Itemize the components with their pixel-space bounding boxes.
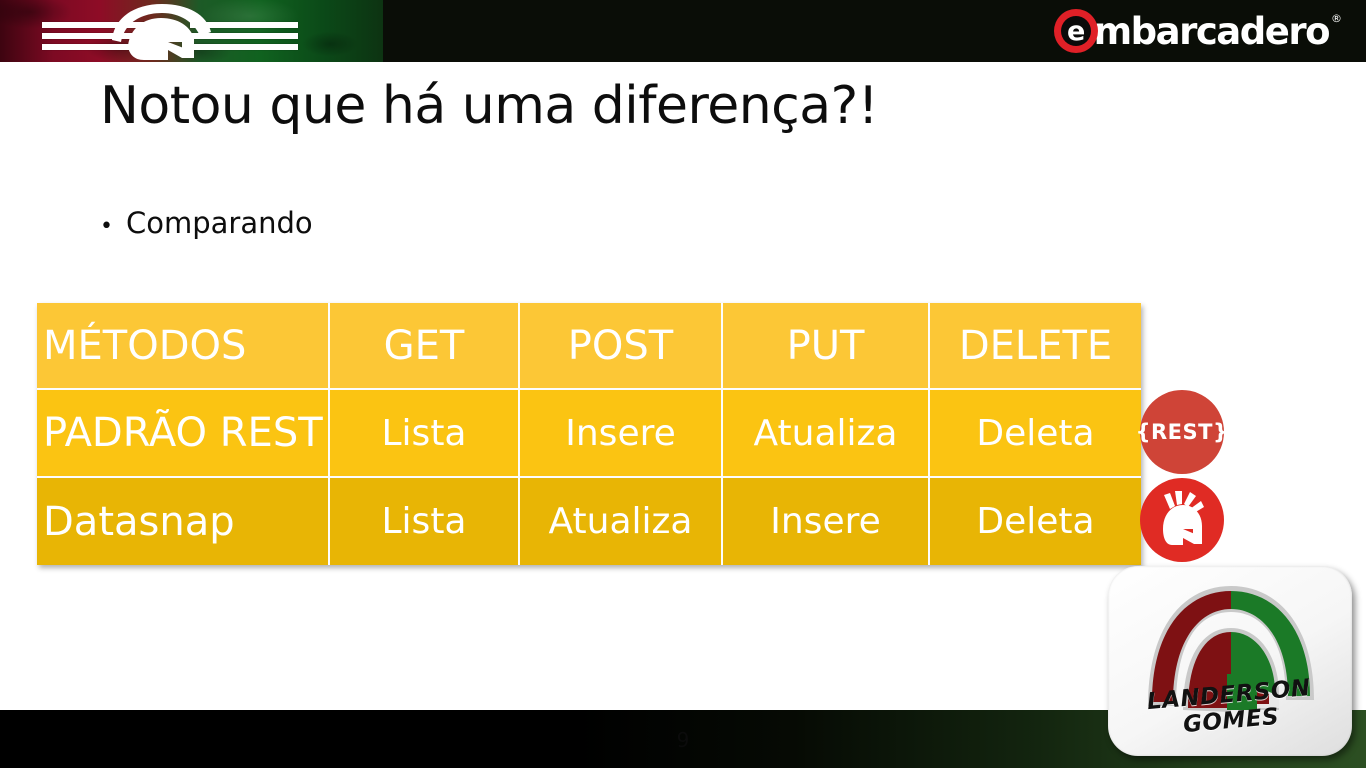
banner-artwork — [0, 0, 383, 62]
column-header-post: POST — [520, 303, 723, 390]
landerson-gomes-logo: LANDERSON GOMES — [1108, 566, 1352, 756]
cell-rest-put: Atualiza — [723, 390, 930, 478]
table-header-row: MÉTODOS GET POST PUT DELETE — [37, 303, 1141, 390]
embarcadero-e-letter: e — [1067, 18, 1084, 45]
cell-rest-post: Insere — [520, 390, 723, 478]
cell-datasnap-put: Insere — [723, 478, 930, 565]
embarcadero-wordmark: mbarcadero — [1094, 13, 1329, 50]
cell-datasnap-get: Lista — [330, 478, 520, 565]
embarcadero-logo: e mbarcadero ® — [1054, 8, 1342, 54]
table-row: Datasnap Lista Atualiza Insere Deleta — [37, 478, 1141, 565]
row-label-padrao-rest: PADRÃO REST — [37, 390, 330, 478]
rest-badge-icon: {REST} — [1140, 390, 1224, 474]
spartan-helmet-glyph — [1149, 487, 1215, 553]
registered-mark: ® — [1331, 12, 1342, 25]
rest-badge-label: {REST} — [1136, 420, 1229, 444]
cell-rest-delete: Deleta — [930, 390, 1141, 478]
spartan-helmet-icon — [108, 2, 214, 62]
top-banner: e mbarcadero ® — [0, 0, 1366, 62]
column-header-get: GET — [330, 303, 520, 390]
bullet-item: • Comparando — [100, 206, 313, 240]
cell-rest-get: Lista — [330, 390, 520, 478]
column-header-metodos: MÉTODOS — [37, 303, 330, 390]
row-label-datasnap: Datasnap — [37, 478, 330, 565]
page-title: Notou que há uma diferença?! — [100, 78, 1200, 135]
column-header-delete: DELETE — [930, 303, 1141, 390]
embarcadero-e-circle-icon: e — [1054, 9, 1098, 53]
bullet-marker-icon: • — [100, 216, 113, 238]
comparison-table: MÉTODOS GET POST PUT DELETE PADRÃO REST … — [37, 303, 1141, 565]
datasnap-spartan-helmet-icon — [1140, 478, 1224, 562]
cell-datasnap-delete: Deleta — [930, 478, 1141, 565]
bullet-item-label: Comparando — [126, 206, 313, 240]
cell-datasnap-post: Atualiza — [520, 478, 723, 565]
column-header-put: PUT — [723, 303, 930, 390]
table-row: PADRÃO REST Lista Insere Atualiza Deleta — [37, 390, 1141, 478]
